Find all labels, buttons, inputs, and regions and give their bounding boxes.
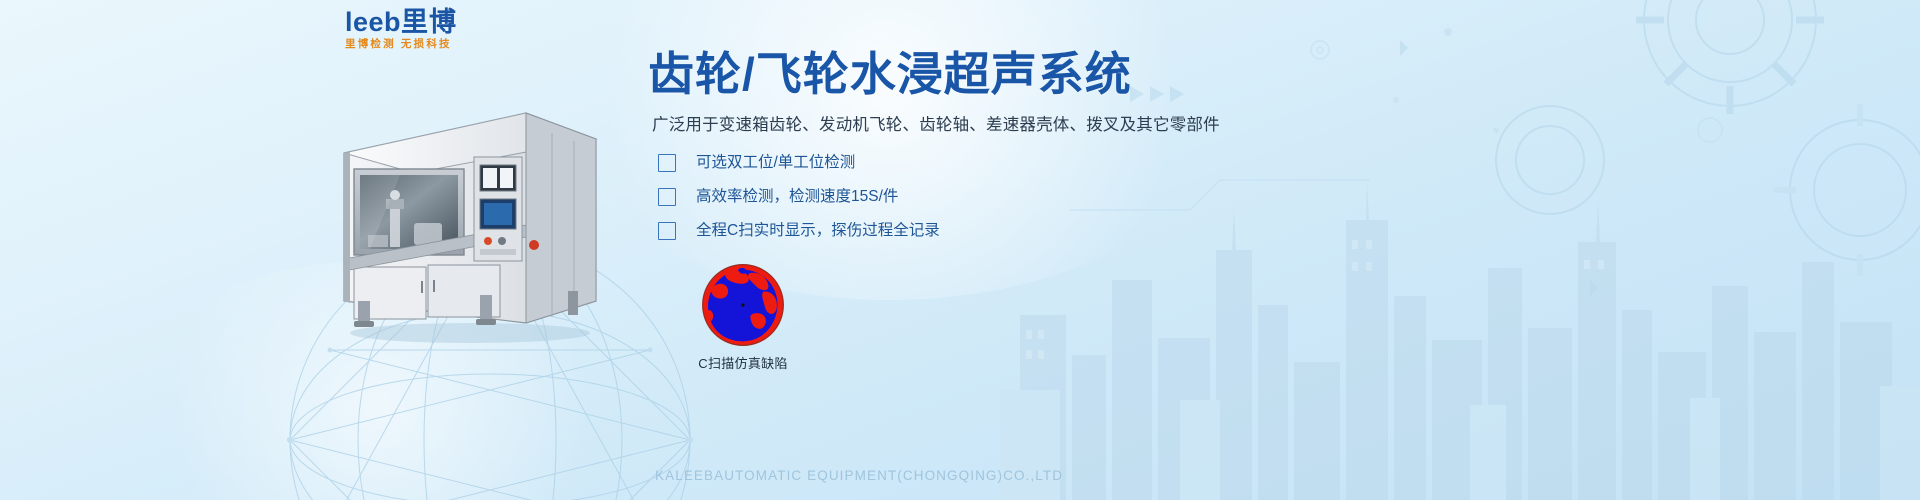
cscan-image [701,263,785,347]
feature-label: 全程C扫实时显示，探伤过程全记录 [696,221,940,241]
list-item[interactable]: 高效率检测，检测速度15S/件 [658,187,1268,207]
logo-tagline: 里博检测 无损科技 [345,38,555,51]
promo-banner: leeb里博 里博检测 无损科技 [0,0,1920,500]
checkbox-icon[interactable] [658,188,676,206]
cscan-sample: C扫描仿真缺陷 [668,263,818,372]
logo-latin-text: leeb [345,7,401,37]
feature-label: 可选双工位/单工位检测 [696,153,855,173]
product-photo [330,95,610,345]
feature-label: 高效率检测，检测速度15S/件 [696,187,898,207]
page-title: 齿轮/飞轮水浸超声系统 [648,45,1268,103]
checkbox-icon[interactable] [658,222,676,240]
brand-logo[interactable]: leeb里博 里博检测 无损科技 [345,8,555,50]
list-item[interactable]: 可选双工位/单工位检测 [658,153,1268,173]
list-item[interactable]: 全程C扫实时显示，探伤过程全记录 [658,221,1268,241]
feature-list: 可选双工位/单工位检测 高效率检测，检测速度15S/件 全程C扫实时显示，探伤过… [658,153,1268,241]
checkbox-icon[interactable] [658,154,676,172]
logo-wordmark: leeb里博 [345,8,555,37]
gear-graphic [1300,0,1920,320]
hero-copy: 齿轮/飞轮水浸超声系统 广泛用于变速箱齿轮、发动机飞轮、齿轮轴、差速器壳体、拨叉… [648,45,1268,255]
cscan-caption: C扫描仿真缺陷 [668,353,818,372]
hero-subtitle: 广泛用于变速箱齿轮、发动机飞轮、齿轮轴、差速器壳体、拨叉及其它零部件 [652,113,1268,137]
company-watermark: KALEEBAUTOMATIC EQUIPMENT(CHONGQING)CO.,… [655,468,1063,483]
logo-chinese-text: 里博 [401,7,457,37]
